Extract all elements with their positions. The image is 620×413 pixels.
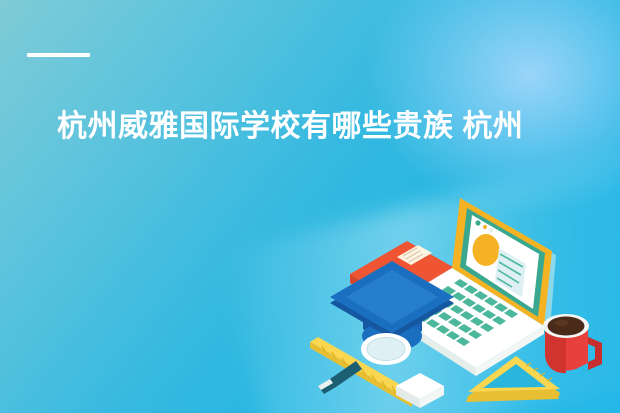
page-title: 杭州威雅国际学校有哪些贵族 杭州 xyxy=(57,108,577,148)
coffee-mug-icon xyxy=(543,314,602,373)
study-desk-illustration xyxy=(300,196,620,413)
eraser-icon xyxy=(396,373,444,408)
promo-banner: 杭州威雅国际学校有哪些贵族 杭州 xyxy=(0,0,620,413)
accent-rule xyxy=(27,53,90,57)
